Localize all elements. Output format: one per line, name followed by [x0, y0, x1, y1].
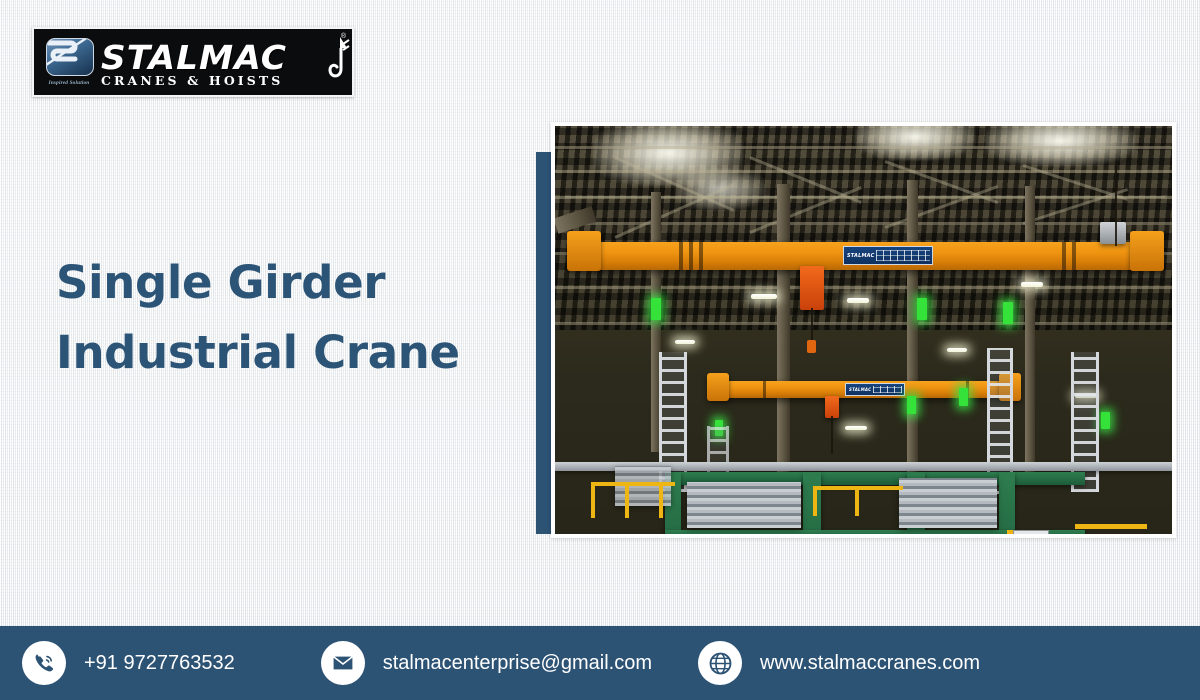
- factory-crane-photo: STALMAC STALMAC: [555, 126, 1172, 534]
- page-title: Single Girder Industrial Crane: [56, 248, 496, 388]
- overhead-crane-girder-upper: STALMAC: [593, 242, 1138, 270]
- crane-plate-brand-lower: STALMAC: [849, 387, 871, 392]
- contact-phone[interactable]: +91 9727763532: [22, 641, 235, 685]
- website-url: www.stalmaccranes.com: [760, 652, 980, 675]
- phone-icon: [22, 641, 66, 685]
- page-title-line-1: Single Girder: [56, 248, 496, 318]
- crane-plate-brand: STALMAC: [847, 253, 874, 259]
- globe-icon: [698, 641, 742, 685]
- crane-hook-icon: [320, 35, 350, 93]
- hero-photo-block: STALMAC STALMAC: [536, 122, 1176, 554]
- contact-email[interactable]: stalmacenterprise@gmail.com: [321, 641, 652, 685]
- company-logo[interactable]: Inspired Solution STALMAC CRANES & HOIST…: [32, 27, 354, 97]
- contact-footer-bar: +91 9727763532 stalmacenterprise@gmail.c…: [0, 626, 1200, 700]
- crane-name-plate-lower: STALMAC: [845, 383, 905, 396]
- contact-website[interactable]: www.stalmaccranes.com: [698, 641, 980, 685]
- photo-card: STALMAC STALMAC: [551, 122, 1176, 538]
- phone-number: +91 9727763532: [84, 652, 235, 675]
- stalmac-s-monogram-icon: Inspired Solution: [43, 38, 95, 86]
- email-icon: [321, 641, 365, 685]
- email-address: stalmacenterprise@gmail.com: [383, 652, 652, 675]
- page-title-line-2: Industrial Crane: [56, 318, 496, 388]
- logo-wordmark: STALMAC CRANES & HOISTS: [101, 29, 352, 95]
- crane-name-plate-upper: STALMAC: [843, 246, 933, 265]
- logo-tagline: Inspired Solution: [43, 80, 95, 86]
